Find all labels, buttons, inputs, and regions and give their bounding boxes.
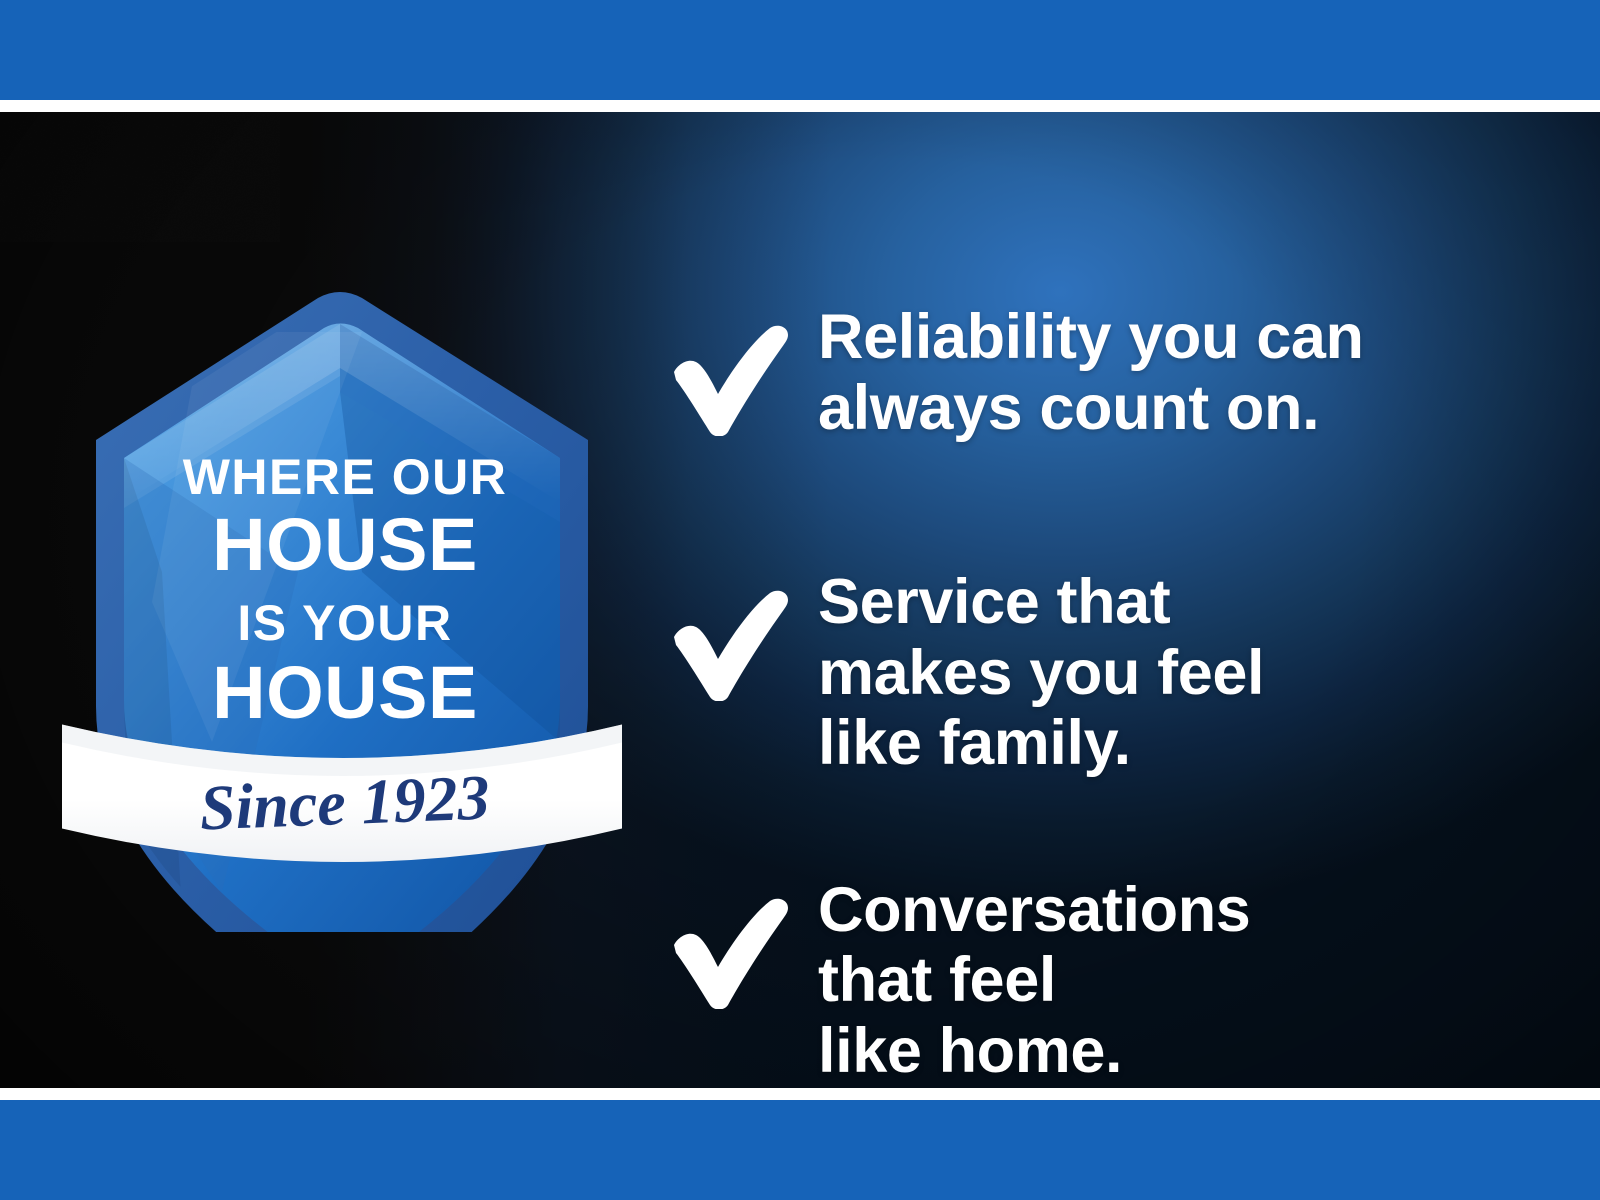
benefit-text: Service that makes you feel like family. [818,567,1568,779]
top-brand-bar [0,0,1600,100]
content-stage: WHERE OUR HOUSE IS YOUR HOUSE Since 1923 [0,112,1600,1088]
checkmark-icon [668,875,818,1009]
top-white-divider [0,100,1600,112]
logo-line-2: HOUSE [212,503,478,586]
logo-line-3: IS YOUR [237,595,452,651]
bottom-white-divider [0,1088,1600,1100]
bottom-brand-bar [0,1100,1600,1200]
benefit-text: Reliability you can always count on. [818,302,1568,443]
logo-since-text: Since 1923 [198,761,490,843]
company-logo: WHERE OUR HOUSE IS YOUR HOUSE Since 1923 [62,272,622,932]
benefits-list: Reliability you can always count on. Ser… [668,302,1568,1086]
checkmark-icon [668,567,818,701]
benefit-item: Service that makes you feel like family. [668,567,1568,779]
logo-line-1: WHERE OUR [183,449,508,505]
benefit-item: Conversations that feel like home. [668,875,1568,1087]
promo-graphic: WHERE OUR HOUSE IS YOUR HOUSE Since 1923 [0,0,1600,1200]
background-grain-texture [0,112,280,242]
checkmark-icon [668,302,818,436]
logo-line-4: HOUSE [212,651,478,734]
benefit-item: Reliability you can always count on. [668,302,1568,443]
benefit-text: Conversations that feel like home. [818,875,1568,1087]
